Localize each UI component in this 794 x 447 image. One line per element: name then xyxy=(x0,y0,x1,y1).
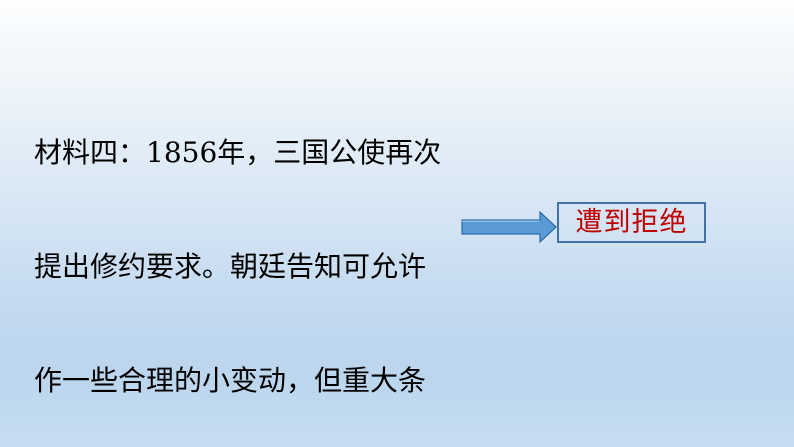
conclusion-callout-label: 遭到拒绝 xyxy=(576,208,688,238)
passage-line-2: 提出修约要求。朝廷告知可允许 xyxy=(34,248,464,286)
passage-line-1: 材料四：1856年，三国公使再次 xyxy=(34,134,464,172)
right-block-arrow-icon xyxy=(460,208,558,246)
conclusion-callout-box: 遭到拒绝 xyxy=(557,202,706,243)
presentation-slide: 材料四：1856年，三国公使再次 提出修约要求。朝廷告知可允许 作一些合理的小变… xyxy=(0,0,794,447)
passage-line-3: 作一些合理的小变动，但重大条 xyxy=(34,362,464,400)
source-passage-text: 材料四：1856年，三国公使再次 提出修约要求。朝廷告知可允许 作一些合理的小变… xyxy=(34,58,464,447)
